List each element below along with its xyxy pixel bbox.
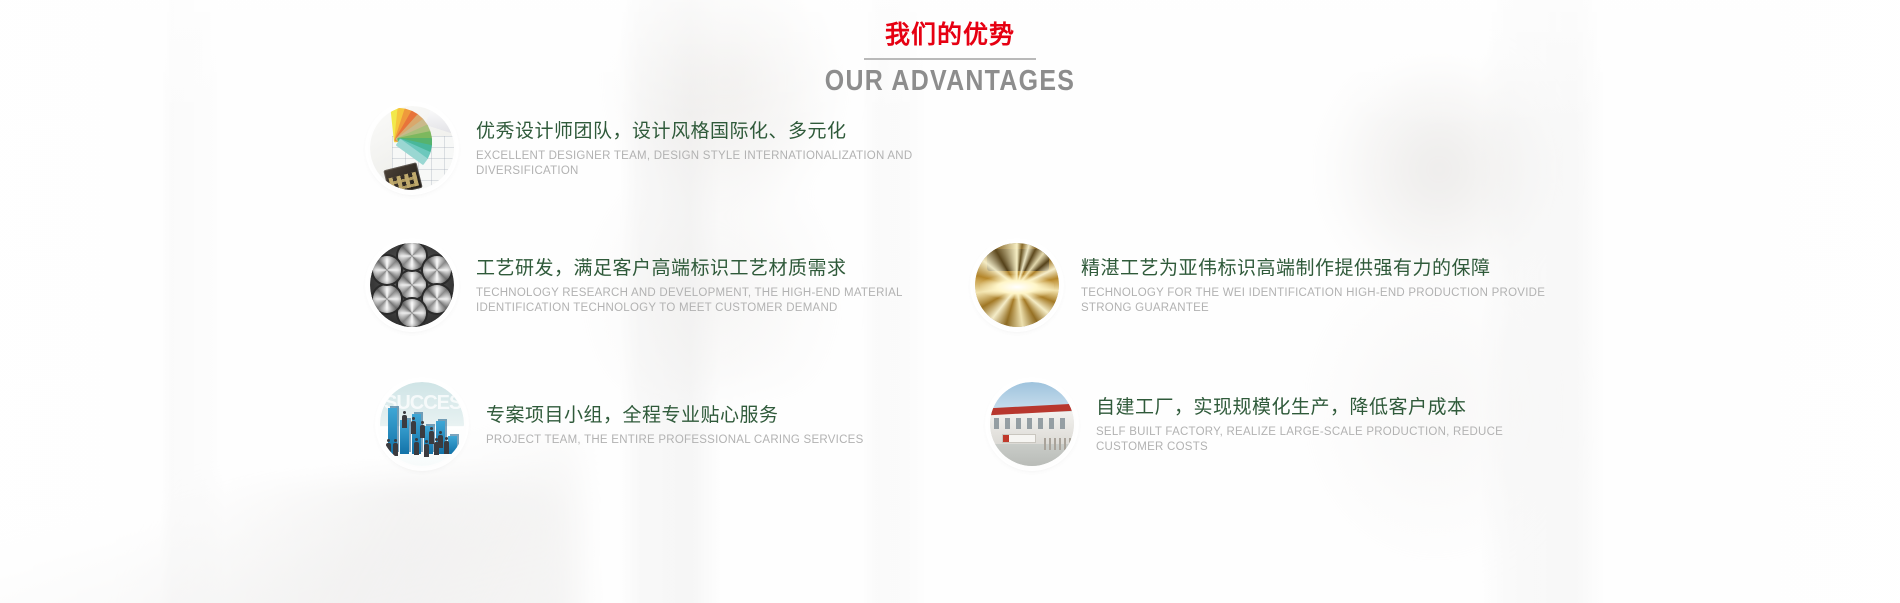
business-growth-chart-icon: SUCCESS — [380, 382, 464, 466]
factory-building-icon — [990, 382, 1074, 466]
feature-item-designer-team[interactable]: 优秀设计师团队，设计风格国际化、多元化 EXCELLENT DESIGNER T… — [370, 106, 936, 190]
feature-text-block: 优秀设计师团队，设计风格国际化、多元化 EXCELLENT DESIGNER T… — [476, 117, 936, 179]
welding-sparks-icon — [975, 243, 1059, 327]
advantages-section: 我们的优势 OUR ADVANTAGES — [0, 0, 1900, 603]
feature-title: 专案项目小组，全程专业贴心服务 — [486, 401, 864, 429]
section-title-chinese: 我们的优势 — [0, 18, 1900, 52]
feature-subtitle: TECHNOLOGY RESEARCH AND DEVELOPMENT, THE… — [476, 286, 936, 316]
feature-item-project-team[interactable]: SUCCESS — [380, 382, 864, 466]
feature-text-block: 工艺研发，满足客户高端标识工艺材质需求 TECHNOLOGY RESEARCH … — [476, 254, 936, 316]
section-title-english: OUR ADVANTAGES — [133, 63, 1767, 99]
metal-pipes-icon — [370, 243, 454, 327]
feature-title: 工艺研发，满足客户高端标识工艺材质需求 — [476, 254, 936, 282]
feature-item-craftsmanship[interactable]: 精湛工艺为亚伟标识高端制作提供强有力的保障 TECHNOLOGY FOR THE… — [975, 243, 1551, 327]
feature-subtitle: TECHNOLOGY FOR THE WEI IDENTIFICATION HI… — [1081, 286, 1551, 316]
feature-title: 自建工厂，实现规模化生产，降低客户成本 — [1096, 393, 1566, 421]
feature-title: 优秀设计师团队，设计风格国际化、多元化 — [476, 117, 936, 145]
section-heading: 我们的优势 OUR ADVANTAGES — [0, 18, 1900, 99]
feature-subtitle: EXCELLENT DESIGNER TEAM, DESIGN STYLE IN… — [476, 149, 936, 179]
feature-item-self-built-factory[interactable]: 自建工厂，实现规模化生产，降低客户成本 SELF BUILT FACTORY, … — [990, 382, 1566, 466]
feature-text-block: 精湛工艺为亚伟标识高端制作提供强有力的保障 TECHNOLOGY FOR THE… — [1081, 254, 1551, 316]
heading-divider — [864, 58, 1036, 60]
feature-title: 精湛工艺为亚伟标识高端制作提供强有力的保障 — [1081, 254, 1551, 282]
feature-subtitle: SELF BUILT FACTORY, REALIZE LARGE-SCALE … — [1096, 425, 1566, 455]
feature-text-block: 专案项目小组，全程专业贴心服务 PROJECT TEAM, THE ENTIRE… — [486, 401, 864, 448]
feature-item-technology-rnd[interactable]: 工艺研发，满足客户高端标识工艺材质需求 TECHNOLOGY RESEARCH … — [370, 243, 936, 327]
feature-text-block: 自建工厂，实现规模化生产，降低客户成本 SELF BUILT FACTORY, … — [1096, 393, 1566, 455]
feature-subtitle: PROJECT TEAM, THE ENTIRE PROFESSIONAL CA… — [486, 433, 864, 448]
color-swatch-blueprint-icon — [370, 106, 454, 190]
